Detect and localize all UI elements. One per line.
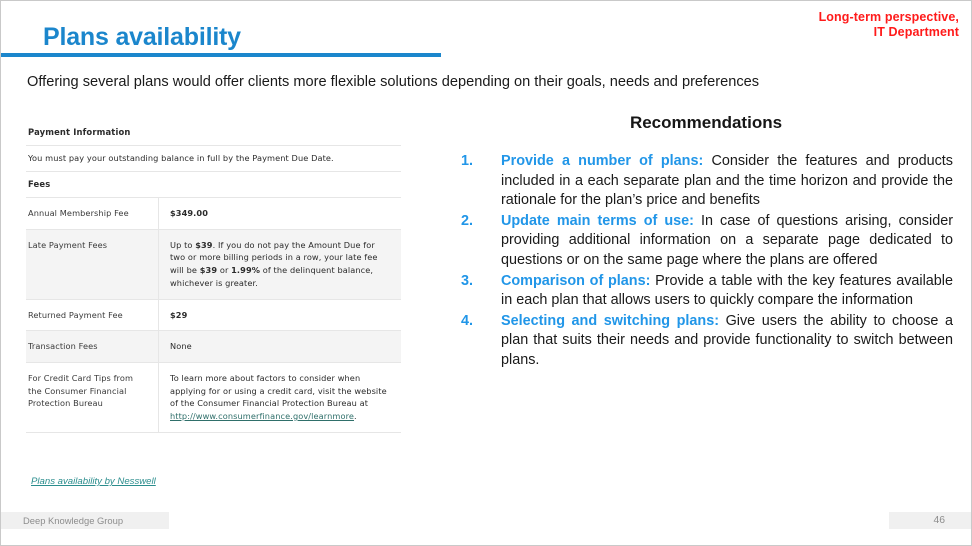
fee-row-value: Up to $39. If you do not pay the Amount … [159, 229, 402, 299]
fee-panel-note: You must pay your outstanding balance in… [26, 145, 401, 171]
department-tag: Long-term perspective, IT Department [819, 10, 959, 40]
fee-row-label: Late Payment Fees [26, 229, 159, 299]
page-title: Plans availability [43, 23, 241, 52]
recommendation-text: Update main terms of use: In case of que… [501, 212, 953, 271]
fee-row-label: For Credit Card Tips from the Consumer F… [26, 362, 159, 432]
footer-company-banner: Deep Knowledge Group [1, 512, 169, 529]
recommendation-number: 4. [461, 312, 501, 332]
slide: Long-term perspective, IT Department Pla… [0, 0, 972, 546]
fee-row-value: None [159, 331, 402, 363]
recommendation-item: 2.Update main terms of use: In case of q… [461, 212, 953, 271]
recommendation-number: 1. [461, 152, 501, 172]
fee-disclosure-panel: Payment Information You must pay your ou… [26, 121, 401, 433]
fee-row-value: $349.00 [159, 198, 402, 230]
recommendations-title: Recommendations [456, 113, 956, 133]
fee-table-row: Annual Membership Fee$349.00 [26, 198, 401, 230]
recommendation-text: Selecting and switching plans: Give user… [501, 312, 953, 371]
recommendation-lead: Selecting and switching plans: [501, 313, 719, 329]
fee-row-label: Returned Payment Fee [26, 299, 159, 331]
fee-table-row: For Credit Card Tips from the Consumer F… [26, 362, 401, 432]
recommendations-list: 1.Provide a number of plans: Consider th… [461, 152, 953, 372]
fee-row-value: $29 [159, 299, 402, 331]
department-tag-line1: Long-term perspective, [819, 10, 959, 25]
recommendation-lead: Provide a number of plans: [501, 153, 703, 169]
fee-panel-section-title: Payment Information [26, 121, 401, 145]
recommendation-text: Comparison of plans: Provide a table wit… [501, 272, 953, 311]
title-underline-rule [1, 53, 441, 57]
footer-company-label: Deep Knowledge Group [23, 515, 123, 526]
fee-row-label: Annual Membership Fee [26, 198, 159, 230]
fee-panel-subsection-title: Fees [26, 171, 401, 197]
fee-table-row: Late Payment FeesUp to $39. If you do no… [26, 229, 401, 299]
recommendation-lead: Update main terms of use: [501, 213, 694, 229]
department-tag-line2: IT Department [819, 25, 959, 40]
fee-table-row: Transaction FeesNone [26, 331, 401, 363]
recommendation-number: 3. [461, 272, 501, 292]
fee-table-row: Returned Payment Fee$29 [26, 299, 401, 331]
fee-row-value: To learn more about factors to consider … [159, 362, 402, 432]
recommendation-text: Provide a number of plans: Consider the … [501, 152, 953, 211]
fee-row-label: Transaction Fees [26, 331, 159, 363]
recommendation-item: 3.Comparison of plans: Provide a table w… [461, 272, 953, 311]
fee-table: Annual Membership Fee$349.00Late Payment… [26, 197, 401, 433]
recommendation-item: 1.Provide a number of plans: Consider th… [461, 152, 953, 211]
recommendation-number: 2. [461, 212, 501, 232]
recommendation-item: 4.Selecting and switching plans: Give us… [461, 312, 953, 371]
source-link[interactable]: Plans availability by Nesswell [31, 476, 156, 487]
recommendation-lead: Comparison of plans: [501, 273, 650, 289]
fee-table-body: Annual Membership Fee$349.00Late Payment… [26, 198, 401, 433]
footer-page-banner: 46 [889, 512, 971, 529]
page-number: 46 [933, 515, 945, 526]
page-subtitle: Offering several plans would offer clien… [27, 74, 759, 90]
